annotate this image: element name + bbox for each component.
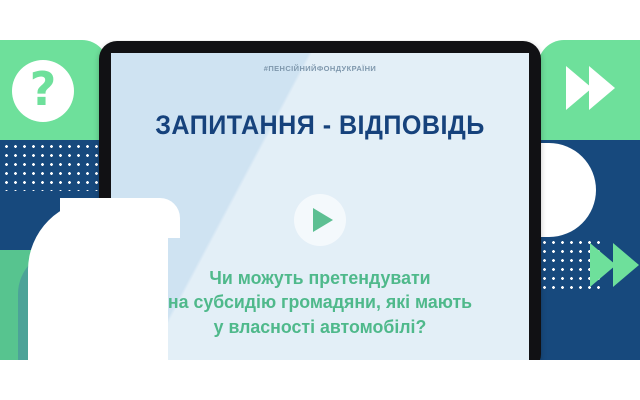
play-button[interactable] xyxy=(294,194,346,246)
question-text: Чи можуть претендувати на субсидію грома… xyxy=(119,266,520,339)
question-line-3: у власності автомобілі? xyxy=(119,315,520,339)
fast-forward-icon-top xyxy=(566,66,615,110)
question-line-1: Чи можуть претендувати xyxy=(119,266,520,290)
tablet-screen: #ПЕНСІЙНИЙФОНДУКРАЇНИ ЗАПИТАННЯ - ВІДПОВ… xyxy=(111,53,529,360)
fast-forward-icon-bottom xyxy=(590,243,639,287)
question-mark-glyph: ? xyxy=(30,66,57,112)
fast-forward-triangle-4 xyxy=(613,243,639,287)
play-icon xyxy=(313,208,333,232)
top-white-band xyxy=(0,0,640,40)
brand-hashtag: #ПЕНСІЙНИЙФОНДУКРАЇНИ xyxy=(111,64,529,73)
question-mark-icon: ? xyxy=(12,60,74,122)
fast-forward-triangle-2 xyxy=(589,66,615,110)
tablet-device: #ПЕНСІЙНИЙФОНДУКРАЇНИ ЗАПИТАННЯ - ВІДПОВ… xyxy=(99,41,541,372)
video-slide: #ПЕНСІЙНИЙФОНДУКРАЇНИ ЗАПИТАННЯ - ВІДПОВ… xyxy=(111,53,529,360)
slide-headline: ЗАПИТАННЯ - ВІДПОВІДЬ xyxy=(126,110,515,141)
left-dot-pattern-band xyxy=(0,140,108,192)
image-canvas: ? #ПЕНСІЙНИЙФОНДУКРАЇНИ ЗАПИТАННЯ - ВІДП… xyxy=(0,0,640,400)
question-line-2: на субсидію громадяни, які мають xyxy=(119,290,520,314)
bottom-white-band xyxy=(0,360,640,400)
